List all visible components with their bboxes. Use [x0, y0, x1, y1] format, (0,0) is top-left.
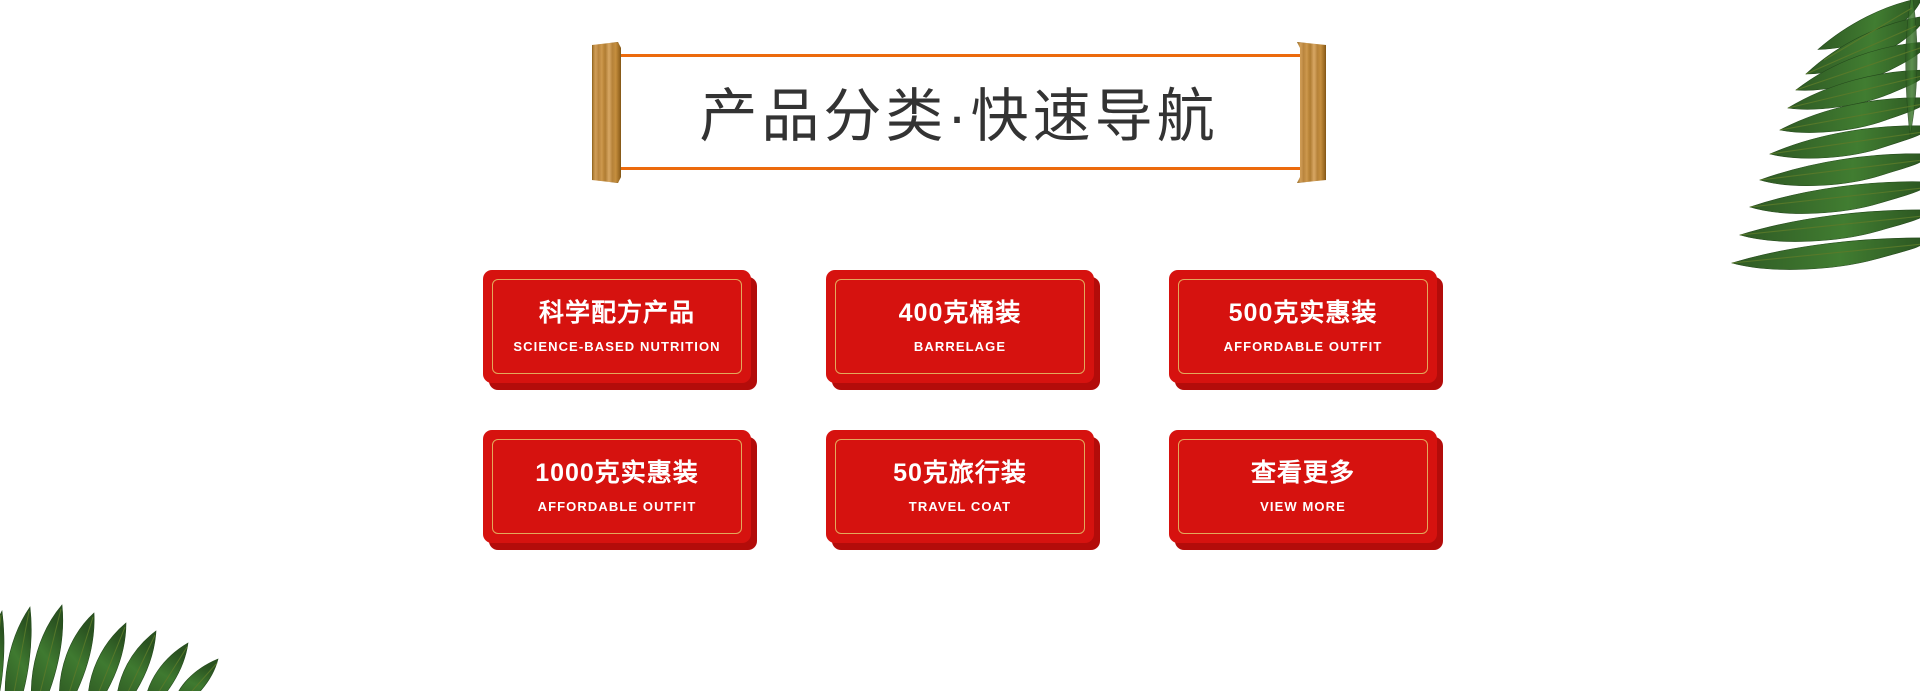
category-card-travel-coat[interactable]: 50克旅行装 TRAVEL COAT	[826, 430, 1094, 543]
category-card-title-cn: 1000克实惠装	[535, 461, 699, 486]
category-card-title-cn: 50克旅行装	[893, 461, 1027, 486]
category-card-science-based-nutrition[interactable]: 科学配方产品 SCIENCE-BASED NUTRITION	[483, 270, 751, 383]
category-card-view-more[interactable]: 查看更多 VIEW MORE	[1169, 430, 1437, 543]
category-card-title-en: AFFORDABLE OUTFIT	[538, 500, 697, 513]
section-header-banner: 产品分类·快速导航	[592, 38, 1326, 186]
wood-scroll-post-right-icon	[1297, 42, 1326, 183]
category-card-grid: 科学配方产品 SCIENCE-BASED NUTRITION 400克桶装 BA…	[483, 270, 1437, 543]
category-card-title-cn: 查看更多	[1251, 461, 1355, 486]
category-card-barrelage[interactable]: 400克桶装 BARRELAGE	[826, 270, 1094, 383]
category-card-title-en: SCIENCE-BASED NUTRITION	[513, 340, 720, 353]
category-card-1000g-affordable-outfit[interactable]: 1000克实惠装 AFFORDABLE OUTFIT	[483, 430, 751, 543]
wood-scroll-post-left-icon	[592, 42, 621, 183]
category-card-title-en: VIEW MORE	[1260, 500, 1346, 513]
category-card-title-cn: 科学配方产品	[539, 301, 695, 326]
category-card-title-cn: 500克实惠装	[1229, 301, 1378, 326]
category-card-title-en: AFFORDABLE OUTFIT	[1224, 340, 1383, 353]
category-card-500g-affordable-outfit[interactable]: 500克实惠装 AFFORDABLE OUTFIT	[1169, 270, 1437, 383]
page-title: 产品分类·快速导航	[632, 56, 1286, 166]
palm-frond-leaf-bottom-left	[0, 559, 226, 691]
category-card-title-en: BARRELAGE	[914, 340, 1006, 353]
page-root: 产品分类·快速导航 科学配方产品 SCIENCE-BASED NUTRITION…	[0, 0, 1920, 691]
category-card-title-en: TRAVEL COAT	[909, 500, 1011, 513]
palm-frond-leaf-top-right	[1690, 0, 1920, 276]
banner-rule-bottom	[617, 167, 1301, 170]
category-card-title-cn: 400克桶装	[899, 301, 1022, 326]
